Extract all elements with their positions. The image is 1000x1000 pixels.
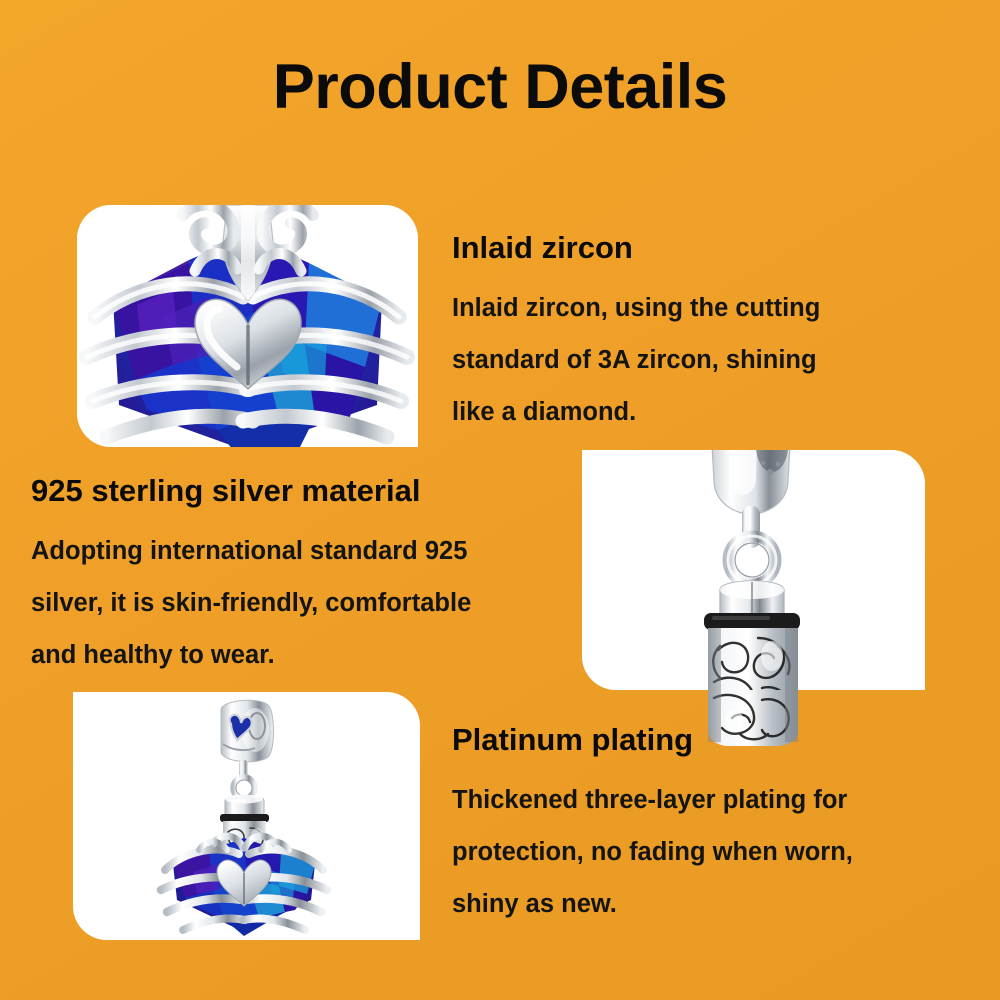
feature-body-line: protection, no fading when worn,	[452, 826, 932, 878]
feature-body-line: Thickened three-layer plating for	[452, 774, 932, 826]
product-image-card-platinum-plating	[73, 692, 420, 940]
feature-body-line: like a diamond.	[452, 386, 922, 438]
feature-heading-inlaid-zircon: Inlaid zircon	[452, 230, 633, 266]
urn-cap	[720, 581, 784, 616]
zircon-closeup-illustration	[77, 205, 418, 447]
feature-body-platinum-plating: Thickened three-layer plating for protec…	[452, 774, 932, 930]
o-ring	[704, 613, 800, 630]
filigree-body-tail	[708, 690, 798, 746]
feature-body-line: shiny as new.	[452, 878, 932, 930]
charm-bail	[221, 700, 274, 762]
filigree-body	[708, 628, 798, 690]
page-title: Product Details	[0, 56, 1000, 119]
feature-body-line: silver, it is skin-friendly, comfortable	[31, 577, 571, 629]
charm-cap	[225, 795, 264, 817]
feature-body-line: Inlaid zircon, using the cutting	[452, 282, 922, 334]
product-image-card-inlaid-zircon	[77, 205, 418, 447]
feature-heading-sterling-silver: 925 sterling silver material	[31, 473, 420, 509]
feature-heading-platinum-plating: Platinum plating	[452, 722, 693, 758]
full-charm-illustration	[73, 692, 420, 940]
charm-o-ring	[220, 814, 269, 822]
product-image-card-sterling-silver	[582, 450, 925, 690]
product-details-infographic: Product Details	[0, 0, 1000, 1000]
feature-body-line: standard of 3A zircon, shining	[452, 334, 922, 386]
feature-body-line: Adopting international standard 925	[31, 525, 571, 577]
urn-pendant-illustration	[582, 450, 925, 690]
feature-body-inlaid-zircon: Inlaid zircon, using the cutting standar…	[452, 282, 922, 438]
feature-body-line: and healthy to wear.	[31, 629, 571, 681]
feature-body-sterling-silver: Adopting international standard 925 silv…	[31, 525, 571, 681]
